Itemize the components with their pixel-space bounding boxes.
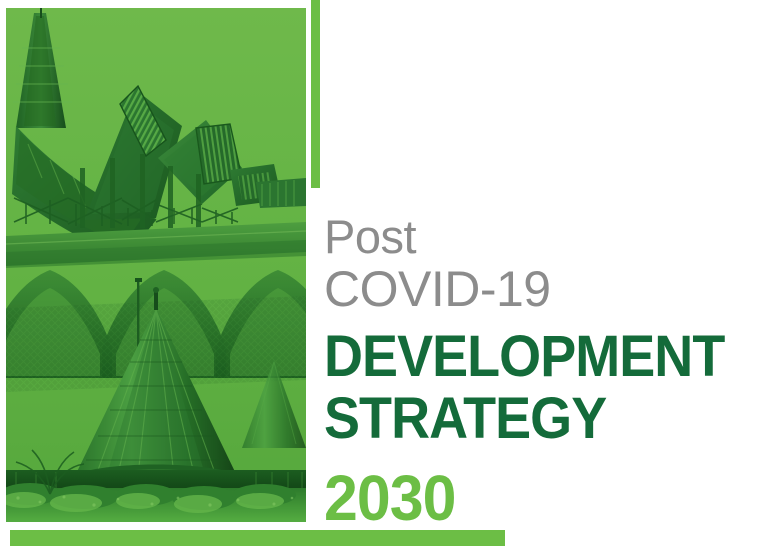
bottom-accent-bar (10, 530, 505, 546)
report-cover: Post COVID-19 DEVELOPMENT STRATEGY 2030 (0, 0, 761, 549)
building-photo-illustration (6, 8, 306, 522)
cover-photo (6, 8, 306, 522)
cover-title-block: Post COVID-19 DEVELOPMENT STRATEGY 2030 (324, 212, 744, 532)
title-line-development: DEVELOPMENT (324, 326, 715, 388)
vertical-accent-bar (311, 0, 320, 188)
title-line-year: 2030 (324, 464, 723, 532)
title-line-covid: COVID-19 (324, 262, 744, 316)
title-line-post: Post (324, 212, 744, 262)
title-line-strategy: STRATEGY (324, 388, 715, 450)
